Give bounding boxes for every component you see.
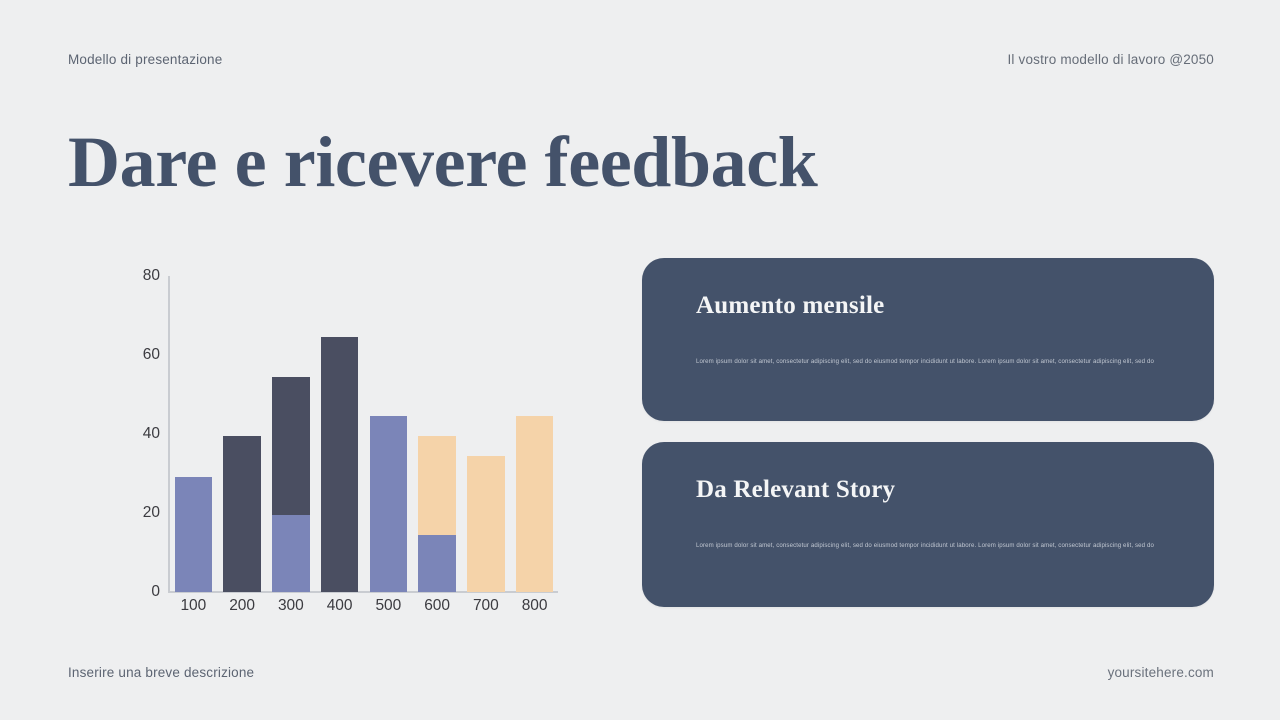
bar-column[interactable] (218, 276, 267, 592)
bar-column[interactable] (315, 276, 364, 592)
bar-stack (272, 276, 310, 592)
bar-column[interactable] (267, 276, 316, 592)
bar-segment-orange (467, 456, 505, 592)
x-axis-labels: 100200300400500600700800 (169, 597, 559, 615)
info-card-aumento-mensile[interactable]: Aumento mensile Lorem ipsum dolor sit am… (642, 258, 1214, 421)
bar-column[interactable] (364, 276, 413, 592)
bar-segment-orange (418, 436, 456, 535)
header-left-label: Modello di presentazione (68, 52, 222, 67)
footer-left-label: Inserire una breve descrizione (68, 665, 254, 680)
bar-stack (418, 276, 456, 592)
x-axis-label: 800 (510, 597, 559, 615)
page-title: Dare e ricevere feedback (68, 125, 817, 201)
card-body-text: Lorem ipsum dolor sit amet, consectetur … (696, 357, 1166, 366)
y-axis-tick: 40 (143, 425, 160, 443)
card-body-text: Lorem ipsum dolor sit amet, consectetur … (696, 541, 1166, 550)
slide-footer: Inserire una breve descrizione yoursiteh… (68, 665, 1214, 680)
x-axis-label: 400 (315, 597, 364, 615)
x-axis-label: 500 (364, 597, 413, 615)
chart-plot-area: 020406080 100200300400500600700800 (68, 262, 573, 624)
x-axis-label: 200 (218, 597, 267, 615)
bar-column[interactable] (169, 276, 218, 592)
y-axis-tick: 60 (143, 346, 160, 364)
y-axis-tick: 80 (143, 267, 160, 285)
header-right-label: Il vostro modello di lavoro @2050 (1008, 52, 1215, 67)
bar-column[interactable] (413, 276, 462, 592)
bar-segment-blue (418, 535, 456, 592)
x-axis-label: 600 (413, 597, 462, 615)
y-axis-tick: 0 (151, 583, 160, 601)
bar-stack (321, 276, 359, 592)
y-axis-tick: 20 (143, 504, 160, 522)
bar-segment-orange (516, 416, 554, 592)
x-axis-label: 700 (462, 597, 511, 615)
info-cards: Aumento mensile Lorem ipsum dolor sit am… (642, 258, 1214, 607)
bar-stack (223, 276, 261, 592)
bar-column[interactable] (462, 276, 511, 592)
bar-segment-blue (175, 477, 213, 592)
bar-segment-blue (272, 515, 310, 592)
slide: Modello di presentazione Il vostro model… (0, 0, 1280, 720)
x-axis-label: 300 (267, 597, 316, 615)
bar-stack (516, 276, 554, 592)
bar-chart: 020406080 100200300400500600700800 (68, 262, 573, 624)
card-title: Aumento mensile (696, 292, 1166, 320)
chart-bars (169, 276, 559, 592)
bar-stack (175, 276, 213, 592)
bar-segment-blue (370, 416, 408, 592)
bar-stack (370, 276, 408, 592)
bar-segment-dark (321, 337, 359, 592)
info-card-da-relevant-story[interactable]: Da Relevant Story Lorem ipsum dolor sit … (642, 442, 1214, 607)
card-title: Da Relevant Story (696, 476, 1166, 504)
bar-segment-dark (223, 436, 261, 592)
footer-website-label: yoursitehere.com (1108, 665, 1214, 680)
x-axis-label: 100 (169, 597, 218, 615)
bar-segment-dark (272, 377, 310, 515)
bar-stack (467, 276, 505, 592)
slide-header: Modello di presentazione Il vostro model… (68, 52, 1214, 67)
bar-column[interactable] (510, 276, 559, 592)
